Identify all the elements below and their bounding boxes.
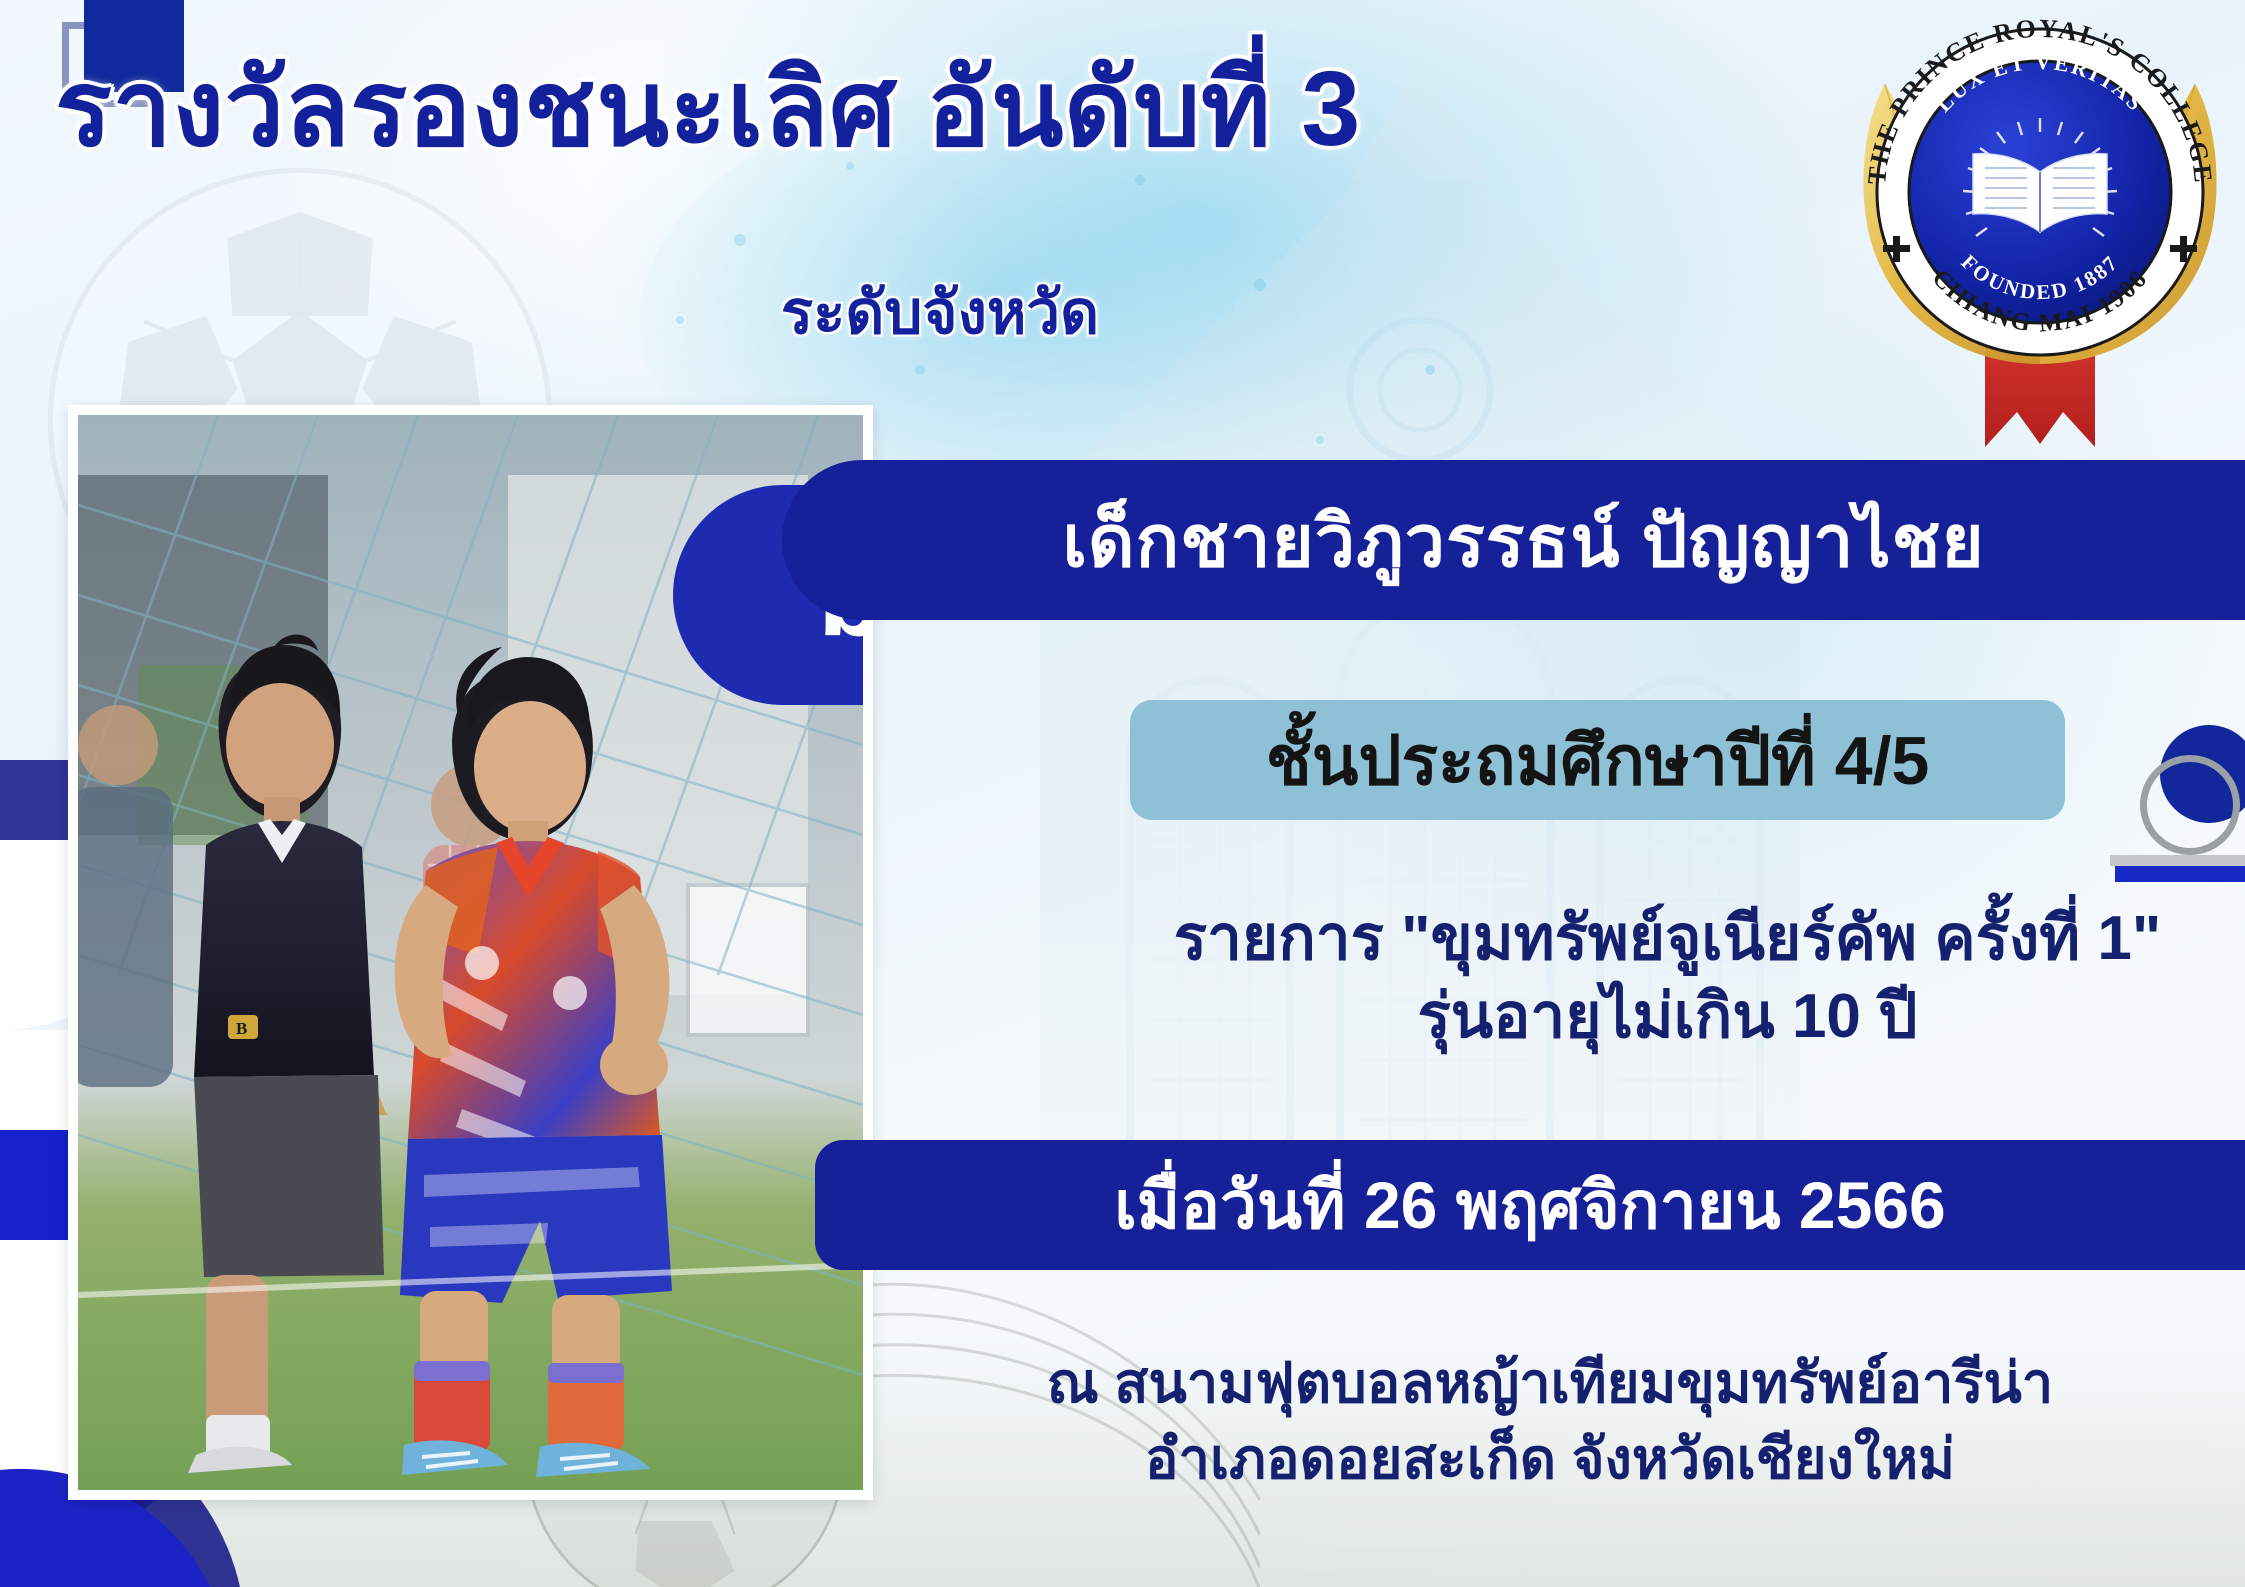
bar-blue-shape bbox=[2115, 866, 2245, 882]
student-photo-frame: B ATHENA CLUB bbox=[68, 405, 873, 1500]
student-name-banner: เด็กชายวิภูวรรธน์ ปัญญาไชย bbox=[782, 460, 2245, 620]
grade-level-text: ชั้นประถมศึกษาปีที่ 4/5 bbox=[1266, 706, 1930, 814]
student-name: เด็กชายวิภูวรรธน์ ปัญญาไชย bbox=[1042, 483, 1984, 598]
svg-text:B: B bbox=[236, 1019, 247, 1038]
event-title: รายการ "ขุมทรัพย์จูเนียร์คัพ ครั้งที่ 1" bbox=[1090, 900, 2245, 978]
bar-gray-shape bbox=[2110, 855, 2245, 866]
event-date-banner: เมื่อวันที่ 26 พฤศจิกายน 2566 bbox=[815, 1140, 2245, 1270]
venue-line-1: ณ สนามฟุตบอลหญ้าเทียมขุมทรัพย์อารีน่า bbox=[930, 1345, 2170, 1421]
venue-info: ณ สนามฟุตบอลหญ้าเทียมขุมทรัพย์อารีน่า อำ… bbox=[930, 1345, 2170, 1496]
page-title: รางวัลรองชนะเลิศ อันดับที่ 3 bbox=[55, 50, 1805, 169]
event-info: รายการ "ขุมทรัพย์จูเนียร์คัพ ครั้งที่ 1"… bbox=[1090, 900, 2245, 1055]
student-photo: B ATHENA CLUB bbox=[78, 415, 863, 1490]
event-age-class: รุ่นอายุไม่เกิน 10 ปี bbox=[1090, 978, 2245, 1056]
circle-outline-shape bbox=[2140, 755, 2240, 855]
subtitle: ระดับจังหวัด bbox=[0, 265, 1880, 360]
event-date-text: เมื่อวันที่ 26 พฤศจิกายน 2566 bbox=[1114, 1153, 1945, 1258]
award-poster: THE PRINCE ROYAL'S COLLEGE CHIANG MAI 19… bbox=[0, 0, 2245, 1587]
grade-level-badge: ชั้นประถมศึกษาปีที่ 4/5 bbox=[1130, 700, 2065, 820]
school-seal: THE PRINCE ROYAL'S COLLEGE CHIANG MAI 19… bbox=[1845, 0, 2235, 472]
venue-line-2: อำเภอดอยสะเก็ด จังหวัดเชียงใหม่ bbox=[930, 1421, 2170, 1497]
